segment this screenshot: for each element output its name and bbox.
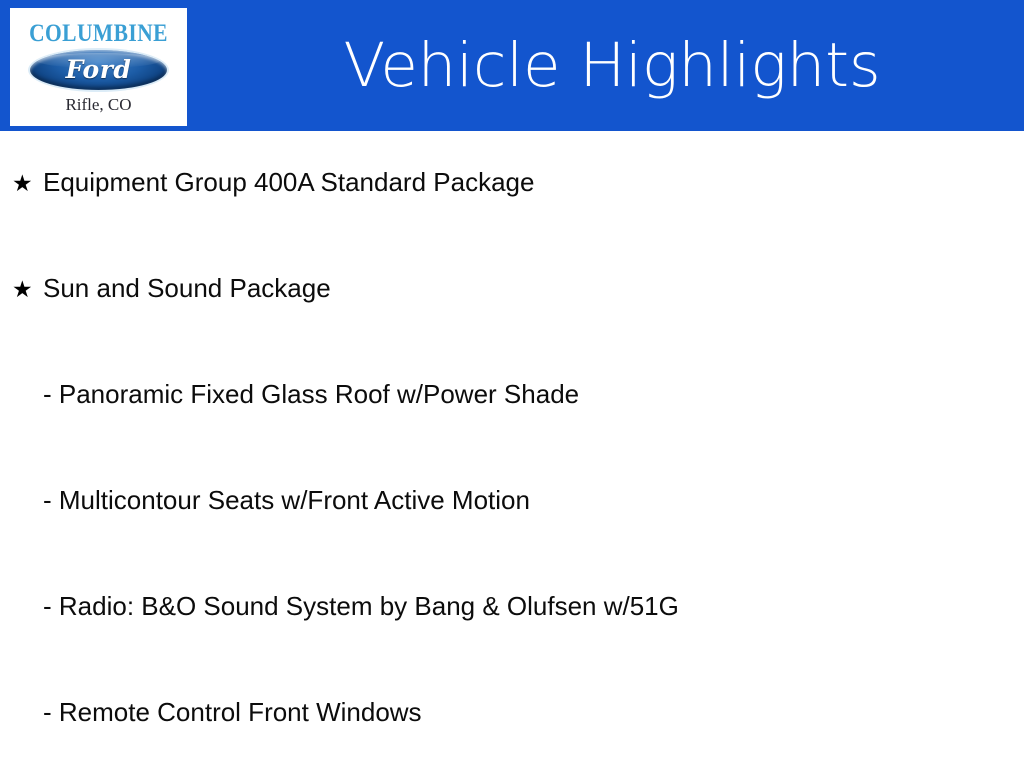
star-icon: ★	[12, 279, 43, 302]
dealer-city-text: Rifle, CO	[10, 96, 187, 113]
sub-list-item: - Panoramic Fixed Glass Roof w/Power Sha…	[43, 381, 579, 407]
list-item: ★ Sun and Sound Package	[12, 275, 331, 302]
page-title: Vehicle Highlights	[200, 0, 1024, 131]
list-item-label: Sun and Sound Package	[43, 275, 331, 301]
list-item-label: Equipment Group 400A Standard Package	[43, 169, 534, 195]
ford-brand-text: Ford	[28, 48, 169, 92]
star-icon: ★	[12, 173, 43, 196]
sub-list-item: - Remote Control Front Windows	[43, 699, 422, 725]
slide-body: ★ Equipment Group 400A Standard Package …	[0, 131, 1024, 768]
list-item: ★ Equipment Group 400A Standard Package	[12, 169, 534, 196]
sub-list-item: - Radio: B&O Sound System by Bang & Oluf…	[43, 593, 679, 619]
sub-list-item: - Multicontour Seats w/Front Active Moti…	[43, 487, 530, 513]
dealer-logo[interactable]: COLUMBINE Ford Rifle, CO	[10, 8, 187, 126]
ford-oval-icon: Ford	[28, 48, 169, 92]
dealer-name-text: COLUMBINE	[22, 21, 174, 46]
slide-canvas: Vehicle Highlights COLUMBINE Ford Rifle,…	[0, 0, 1024, 768]
